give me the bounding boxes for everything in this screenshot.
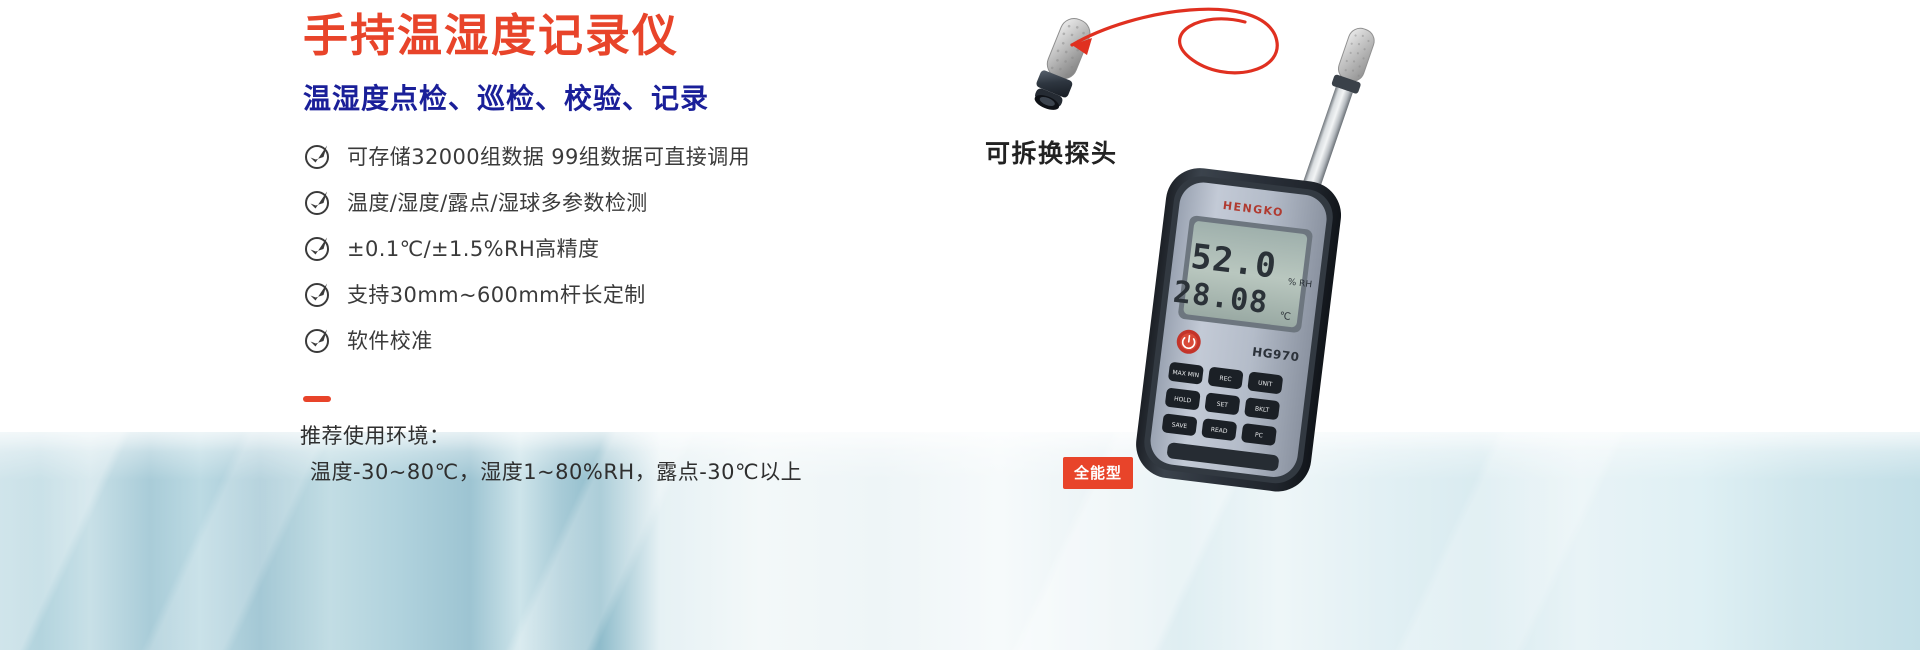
feature-text: 可存储32000组数据 99组数据可直接调用 bbox=[347, 141, 750, 171]
check-circle-icon bbox=[303, 141, 333, 171]
page-title: 手持温湿度记录仪 bbox=[303, 9, 679, 63]
callout-arrow-icon bbox=[1040, 0, 1360, 130]
list-item: 软件校准 bbox=[303, 317, 923, 363]
list-item: ±0.1℃/±1.5%RH高精度 bbox=[303, 225, 923, 271]
feature-text: ±0.1℃/±1.5%RH高精度 bbox=[347, 233, 599, 263]
list-item: 温度/湿度/露点/湿球多参数检测 bbox=[303, 179, 923, 225]
usage-note-detail: 温度-30~80℃，湿度1~80%RH，露点-30℃以上 bbox=[300, 454, 802, 490]
svg-text:SET: SET bbox=[1216, 401, 1228, 409]
feature-text: 软件校准 bbox=[347, 325, 433, 355]
red-divider-dash bbox=[303, 396, 331, 402]
svg-text:REC: REC bbox=[1219, 375, 1232, 383]
usage-note-heading: 推荐使用环境： bbox=[300, 418, 802, 454]
check-circle-icon bbox=[303, 325, 333, 355]
list-item: 支持30mm~600mm杆长定制 bbox=[303, 271, 923, 317]
list-item: 可存储32000组数据 99组数据可直接调用 bbox=[303, 133, 923, 179]
svg-text:PC: PC bbox=[1255, 432, 1264, 440]
check-circle-icon bbox=[303, 187, 333, 217]
usage-note: 推荐使用环境： 温度-30~80℃，湿度1~80%RH，露点-30℃以上 bbox=[300, 418, 802, 490]
feature-list: 可存储32000组数据 99组数据可直接调用 温度/湿度/露点/湿球多参数检测 bbox=[303, 133, 923, 363]
product-banner: 手持温湿度记录仪 温湿度点检、巡检、校验、记录 可存储32000组数据 99组数… bbox=[0, 0, 1920, 650]
check-circle-icon bbox=[303, 233, 333, 263]
feature-text: 温度/湿度/露点/湿球多参数检测 bbox=[347, 187, 648, 217]
text-content: 手持温湿度记录仪 温湿度点检、巡检、校验、记录 可存储32000组数据 99组数… bbox=[0, 0, 1000, 650]
feature-text: 支持30mm~600mm杆长定制 bbox=[347, 279, 646, 309]
probe-callout-label: 可拆换探头 bbox=[985, 134, 1118, 170]
page-subtitle: 温湿度点检、巡检、校验、记录 bbox=[303, 82, 709, 116]
svg-text:℃: ℃ bbox=[1279, 311, 1291, 323]
check-circle-icon bbox=[303, 279, 333, 309]
status-badge: 全能型 bbox=[1063, 457, 1133, 489]
